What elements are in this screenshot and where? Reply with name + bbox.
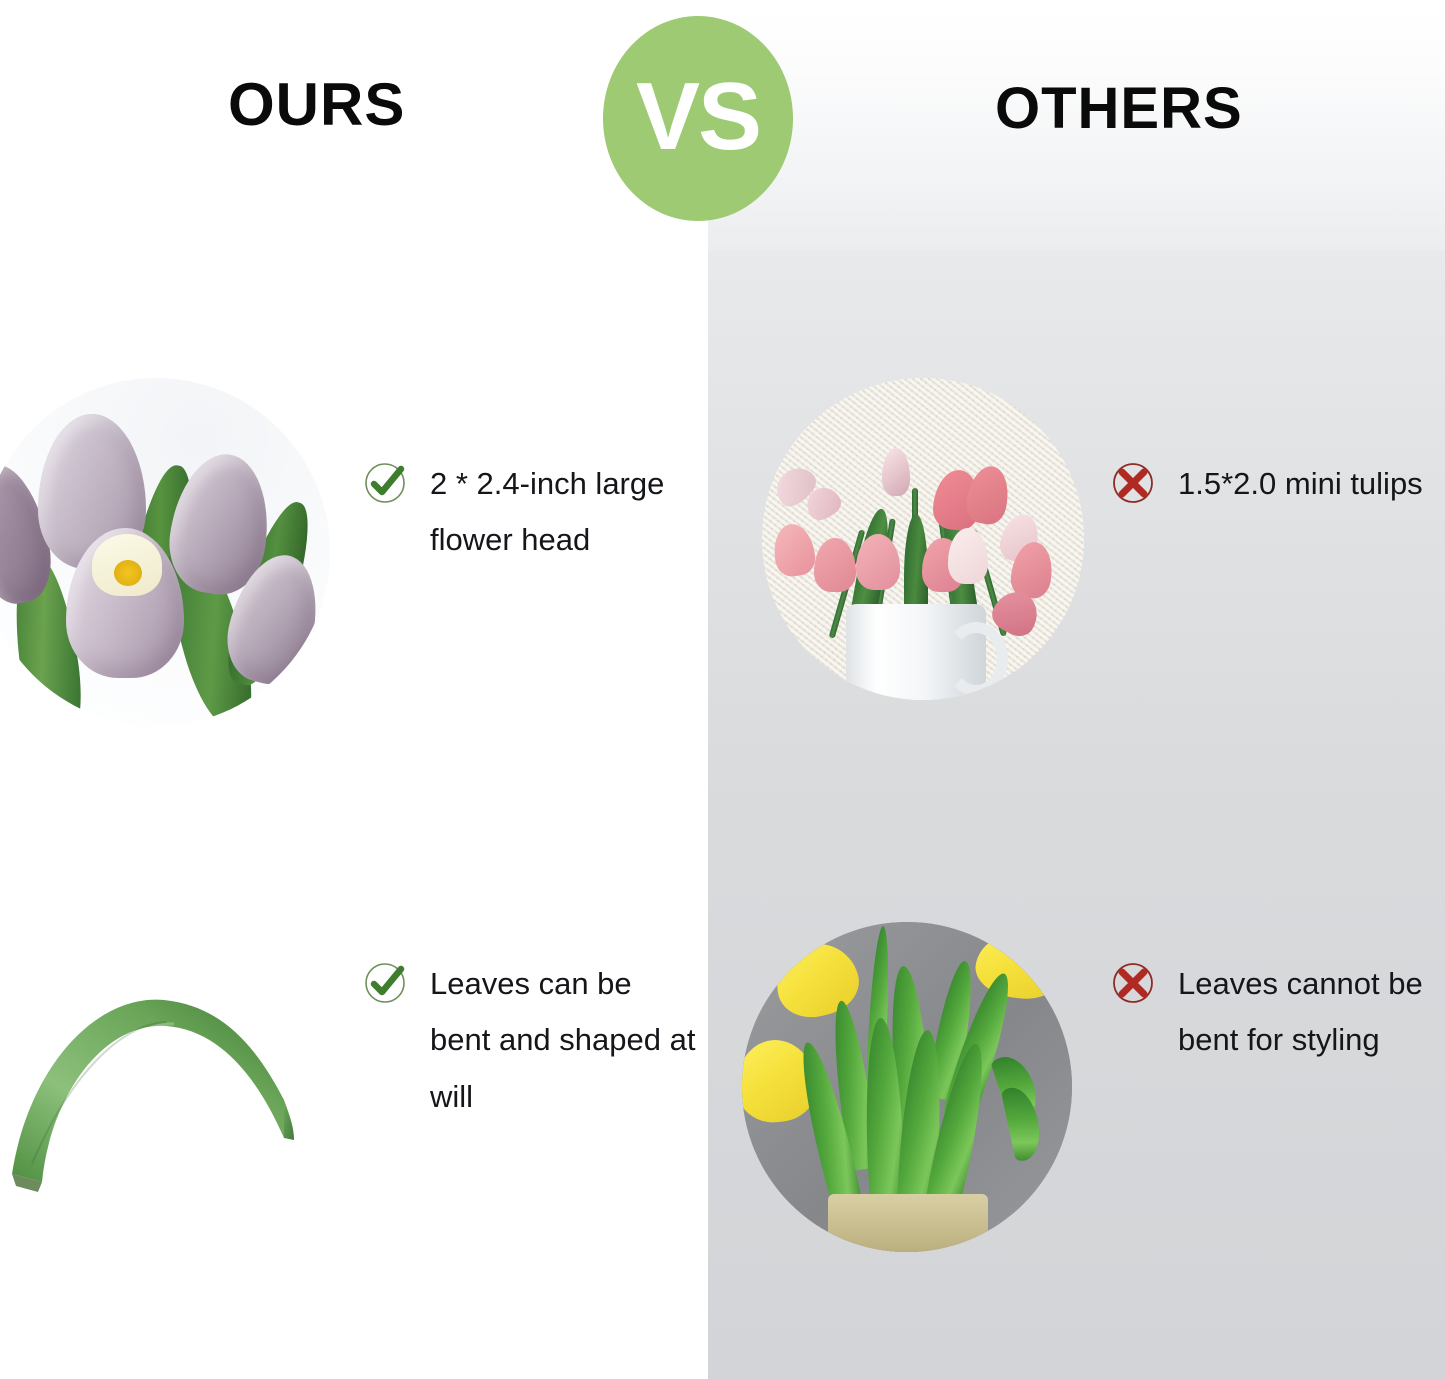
ours-row1-photo [0, 378, 330, 726]
others-title: OTHERS [995, 80, 1243, 138]
header: OURS VS OTHERS [0, 0, 1445, 230]
ours-row2-feature: Leaves can be bent and shaped at will [362, 956, 697, 1125]
ours-row1-feature: 2 * 2.4-inch large flower head [362, 456, 692, 569]
tulip-stamen [114, 560, 142, 586]
check-circle-icon [362, 460, 408, 506]
vs-label: VS [636, 69, 760, 165]
others-row1-text: 1.5*2.0 mini tulips [1178, 456, 1423, 512]
ours-title: OURS [228, 75, 405, 135]
others-row2-text: Leaves cannot be bent for styling [1178, 956, 1430, 1069]
pot-base [828, 1194, 988, 1252]
ours-row2-text: Leaves can be bent and shaped at will [430, 956, 697, 1125]
comparison-infographic: OURS VS OTHERS 2 * 2.4-inch lar [0, 0, 1445, 1379]
ours-row1-text: 2 * 2.4-inch large flower head [430, 456, 692, 569]
cross-circle-icon [1110, 960, 1156, 1006]
vs-badge: VS [603, 16, 793, 221]
white-pitcher-vase [846, 604, 986, 700]
ours-row2-photo [0, 940, 320, 1270]
bent-leaf-shape [0, 978, 304, 1208]
check-circle-icon [362, 960, 408, 1006]
others-row1-photo [762, 378, 1084, 700]
others-row2-feature: Leaves cannot be bent for styling [1110, 956, 1430, 1069]
others-row2-photo [742, 922, 1072, 1252]
cross-circle-icon [1110, 460, 1156, 506]
others-row1-feature: 1.5*2.0 mini tulips [1110, 456, 1430, 512]
